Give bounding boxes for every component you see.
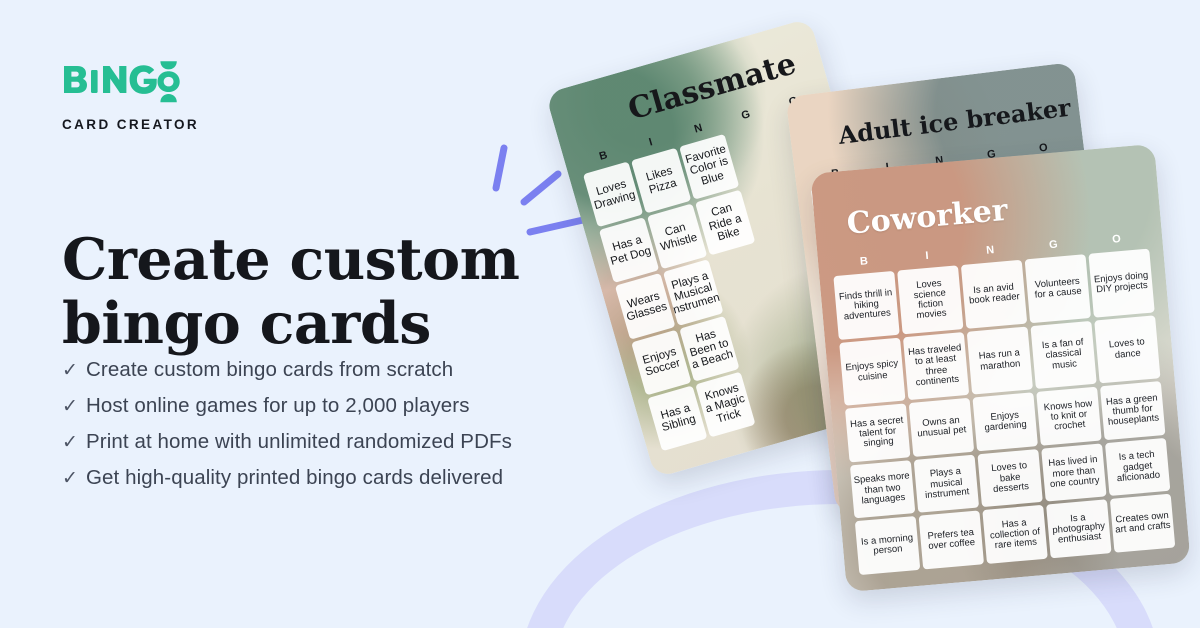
card-column-letter: N xyxy=(958,242,1022,259)
list-item: ✓ Get high-quality printed bingo cards d… xyxy=(62,466,512,490)
feature-text: Create custom bingo cards from scratch xyxy=(86,358,453,382)
bingo-cell[interactable]: Has a secret talent for singing xyxy=(845,404,910,463)
card-title: Adult ice breaker xyxy=(837,93,1072,150)
brand-logo[interactable]: CARD CREATOR xyxy=(62,58,199,132)
bingo-cell[interactable]: Volunteers for a cause xyxy=(1025,254,1091,323)
check-icon: ✓ xyxy=(62,361,86,380)
bingo-cell[interactable]: Creates own art and crafts xyxy=(1110,494,1175,553)
bingo-card-coworker[interactable]: Coworker BINGO Finds thrill in hiking ad… xyxy=(810,144,1190,592)
bingo-cell[interactable]: Speaks more than two languages xyxy=(850,460,915,519)
card-column-letter: O xyxy=(1084,231,1148,248)
bingo-cell[interactable]: Prefers tea over coffee xyxy=(919,511,984,570)
headline-line-1: Create custom xyxy=(62,226,519,293)
headline-line-2: bingo cards xyxy=(62,292,582,356)
bingo-cell[interactable]: Enjoys spicy cuisine xyxy=(839,337,905,406)
bingo-cell[interactable]: Loves science fiction movies xyxy=(897,265,963,334)
list-item: ✓ Host online games for up to 2,000 play… xyxy=(62,394,512,418)
bingo-cell[interactable]: Knows how to knit or crochet xyxy=(1036,387,1101,446)
bingo-cell[interactable]: Enjoys gardening xyxy=(973,393,1038,452)
bingo-cell[interactable]: Owns an unusual pet xyxy=(909,398,974,457)
card-grid: Finds thrill in hiking adventuresLoves s… xyxy=(833,249,1175,575)
card-column-letter: B xyxy=(832,253,896,270)
bingo-cell[interactable]: Is an avid book reader xyxy=(961,260,1027,329)
bingo-cell[interactable]: Loves to dance xyxy=(1094,315,1160,384)
card-title: Classmate xyxy=(624,46,800,127)
feature-text: Get high-quality printed bingo cards del… xyxy=(86,466,503,490)
check-icon: ✓ xyxy=(62,397,86,416)
bingo-cell[interactable]: Has a collection of rare items xyxy=(982,505,1047,564)
bingo-cell[interactable]: Is a morning person xyxy=(855,516,920,575)
bingo-cell[interactable]: Plays a musical instrument xyxy=(914,455,979,514)
bingo-cell[interactable]: Finds thrill in hiking adventures xyxy=(833,271,899,340)
bingo-cell[interactable]: Is a tech gadget aficionado xyxy=(1105,438,1170,497)
bingo-cell[interactable]: Enjoys doing DIY projects xyxy=(1088,249,1154,318)
logo-tagline: CARD CREATOR xyxy=(62,117,199,132)
bingo-cell[interactable]: Is a photography enthusiast xyxy=(1046,500,1111,559)
bingo-cell[interactable]: Has traveled to at least three continent… xyxy=(903,332,969,401)
bingo-cell[interactable]: Loves to bake desserts xyxy=(977,449,1042,508)
bingo-wordmark-icon xyxy=(62,58,184,108)
list-item: ✓ Print at home with unlimited randomize… xyxy=(62,430,512,454)
feature-list: ✓ Create custom bingo cards from scratch… xyxy=(62,358,512,502)
bingo-card-stack: Classmate BINGO Loves DrawingLikes Pizza… xyxy=(560,0,1200,628)
bingo-cell[interactable]: Has lived in more than one country xyxy=(1041,443,1106,502)
bingo-cell[interactable]: Is a fan of classical music xyxy=(1030,321,1096,390)
hero-banner: CARD CREATOR Create custom bingo cards ✓… xyxy=(0,0,1200,628)
list-item: ✓ Create custom bingo cards from scratch xyxy=(62,358,512,382)
feature-text: Print at home with unlimited randomized … xyxy=(86,430,512,454)
bingo-cell[interactable]: Has a green thumb for houseplants xyxy=(1100,381,1165,440)
card-column-letter: I xyxy=(895,247,959,264)
check-icon: ✓ xyxy=(62,433,86,452)
feature-text: Host online games for up to 2,000 player… xyxy=(86,394,470,418)
check-icon: ✓ xyxy=(62,469,86,488)
card-title: Coworker xyxy=(845,193,1009,242)
bingo-cell[interactable]: Has run a marathon xyxy=(967,326,1033,395)
card-column-letter: G xyxy=(1021,236,1085,253)
